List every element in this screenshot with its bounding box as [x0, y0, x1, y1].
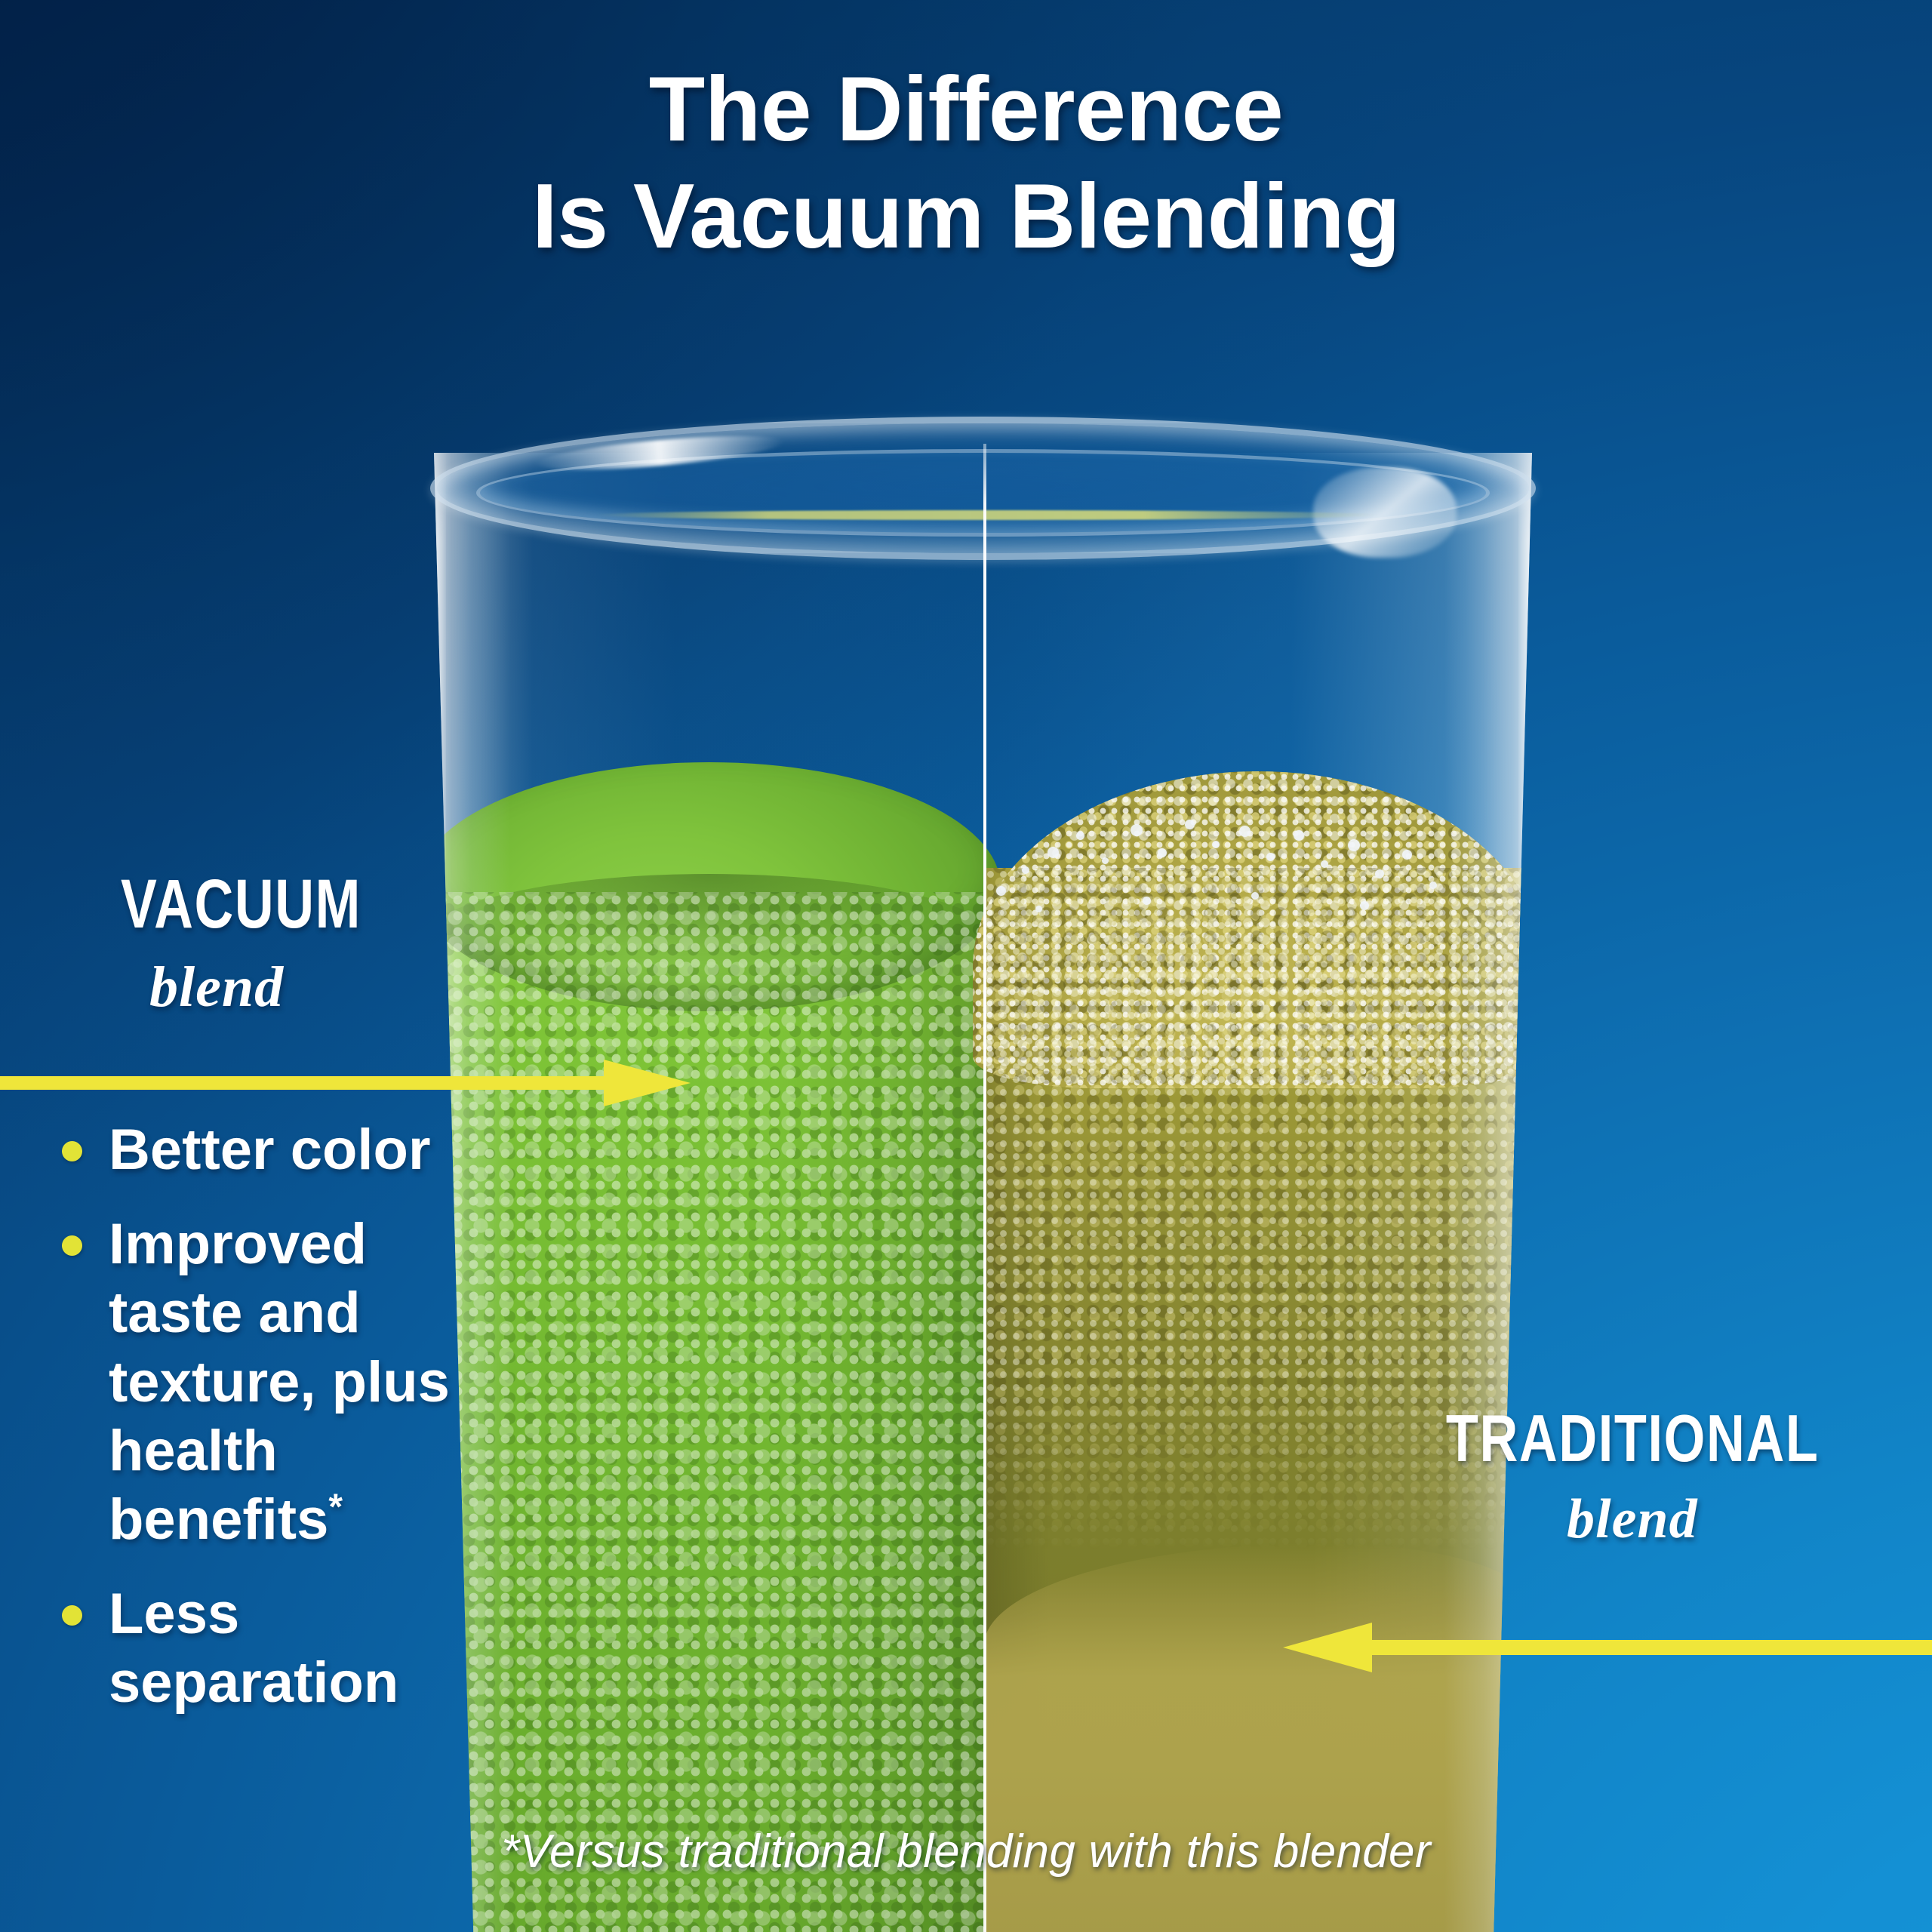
title-line-1: The Difference [649, 57, 1283, 160]
list-item: Less separation [54, 1580, 477, 1717]
vacuum-label: VACUUM blend [121, 869, 429, 1016]
footnote-text: *Versus traditional blending with this b… [0, 1825, 1932, 1878]
page-title: The Difference Is Vacuum Blending [0, 56, 1932, 269]
glass-rim-green-reflection [595, 510, 1378, 520]
bullet-dot-icon [62, 1235, 82, 1256]
vacuum-label-subheading: blend [149, 958, 429, 1016]
vacuum-smoothie-texture [434, 892, 984, 1932]
bullet-dot-icon [62, 1605, 82, 1626]
bullet-dot-icon [62, 1141, 82, 1161]
vacuum-label-heading: VACUUM [121, 869, 361, 939]
traditional-label: TRADITIONAL blend [1399, 1405, 1866, 1547]
infographic-canvas: The Difference Is Vacuum Blending [0, 0, 1932, 1932]
benefit-footnote-marker: * [328, 1487, 343, 1527]
traditional-smoothie-column [984, 868, 1532, 1932]
glass-right-edge [1518, 453, 1532, 1932]
comparison-divider-line [983, 444, 986, 1932]
traditional-label-heading: TRADITIONAL [1445, 1405, 1819, 1472]
traditional-pointer-arrow-icon [1283, 1623, 1932, 1672]
benefit-text: Less separation [109, 1582, 398, 1715]
title-line-2: Is Vacuum Blending [45, 163, 1887, 270]
list-item: Better color [54, 1115, 477, 1184]
list-item: Improved taste and texture, plus health … [54, 1210, 477, 1554]
benefit-text: Better color [109, 1118, 431, 1182]
vacuum-smoothie-column [434, 892, 984, 1932]
traditional-label-subheading: blend [1399, 1491, 1866, 1547]
vacuum-pointer-arrow-icon [0, 1060, 691, 1106]
benefit-text: Improved taste and texture, plus health … [109, 1212, 450, 1552]
benefits-list: Better color Improved taste and texture,… [54, 1115, 477, 1743]
